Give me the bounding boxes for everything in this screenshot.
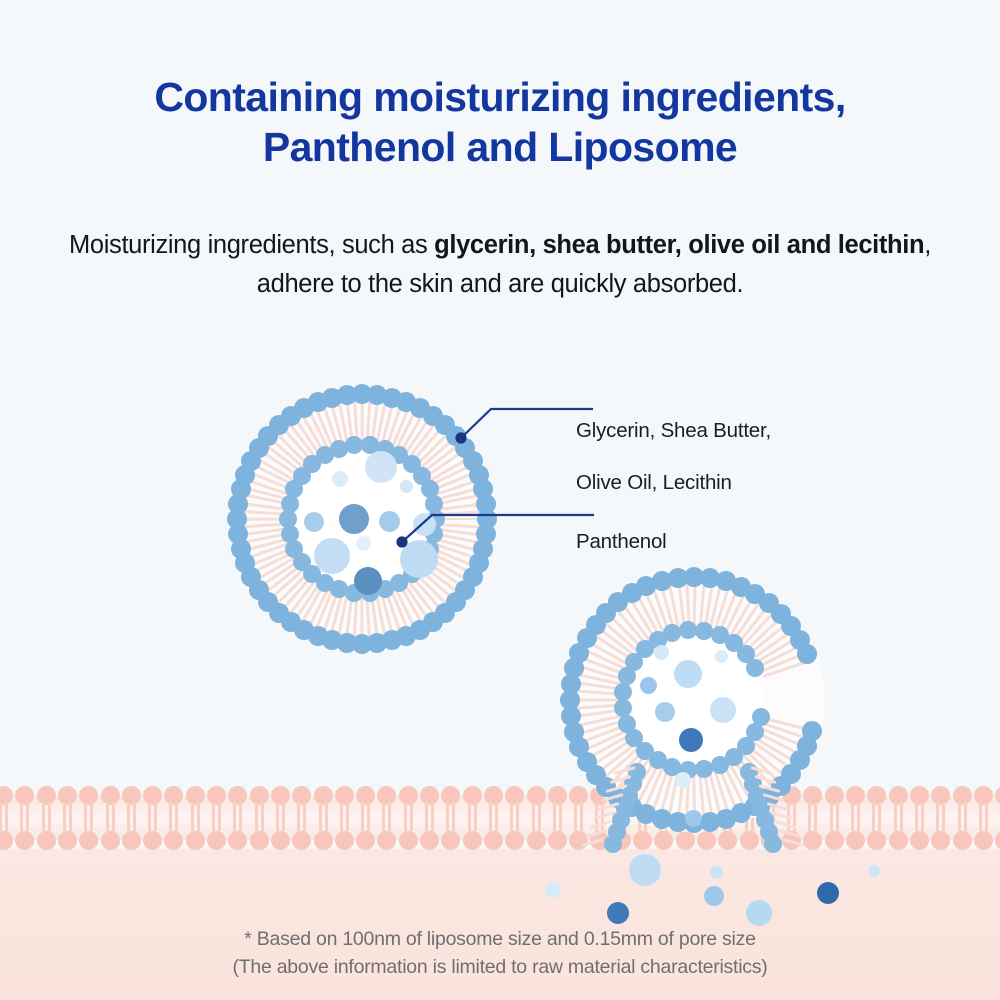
- leader-line-bilayer: [455, 398, 595, 446]
- infographic-canvas: Containing moisturizing ingredients, Pan…: [0, 0, 1000, 1000]
- absorbed-droplet: [629, 854, 661, 886]
- footnote: * Based on 100nm of liposome size and 0.…: [0, 925, 1000, 981]
- leader-line-panthenol: [396, 506, 596, 551]
- absorbed-droplet: [710, 866, 723, 879]
- absorbed-droplet: [545, 882, 561, 898]
- callout-panthenol-line-1: Panthenol: [576, 529, 667, 555]
- callout-bilayer-line-1: Glycerin, Shea Butter,: [576, 418, 771, 444]
- absorbed-droplet: [817, 882, 839, 904]
- absorbed-droplet: [607, 902, 629, 924]
- absorbed-droplet: [746, 900, 772, 926]
- absorbed-droplet: [868, 865, 880, 877]
- footnote-line-1: * Based on 100nm of liposome size and 0.…: [0, 925, 1000, 953]
- callout-bilayer-line-2: Olive Oil, Lecithin: [576, 470, 771, 496]
- footnote-line-2: (The above information is limited to raw…: [0, 953, 1000, 981]
- absorbed-droplet: [704, 886, 724, 906]
- absorbed-droplets-group: [0, 0, 1000, 1000]
- callout-panthenol: Panthenol: [576, 503, 667, 581]
